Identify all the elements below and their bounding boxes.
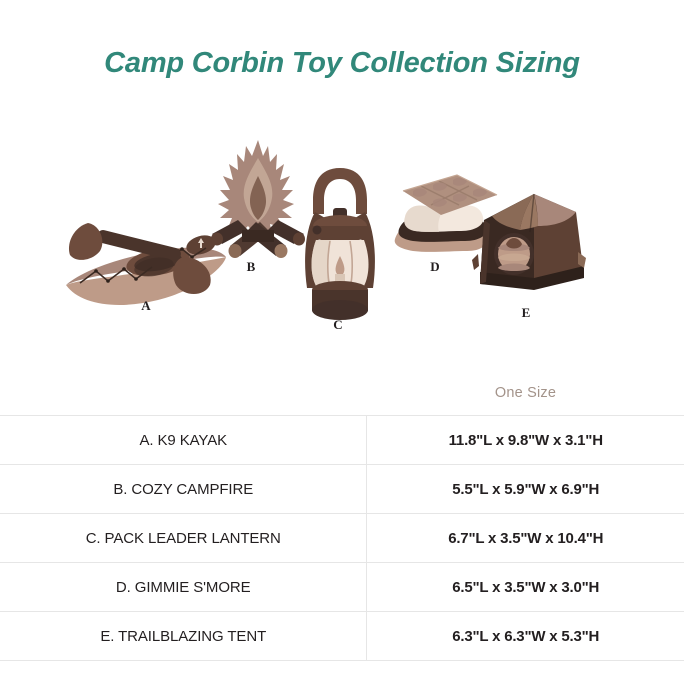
product-size-cell: 5.5"L x 5.9"W x 6.9"H [366, 465, 684, 513]
product-name-cell: A. K9 KAYAK [0, 416, 366, 464]
product-size-cell: 6.5"L x 3.5"W x 3.0"H [366, 563, 684, 611]
figure-label-c: C [323, 317, 353, 333]
column-header-one-size: One Size [367, 370, 684, 415]
table-row: A. K9 KAYAK 11.8"L x 9.8"W x 3.1"H [0, 415, 684, 464]
product-name-cell: C. PACK LEADER LANTERN [0, 514, 366, 562]
product-size-cell: 6.7"L x 3.5"W x 10.4"H [366, 514, 684, 562]
table-row: E. TRAILBLAZING TENT 6.3"L x 6.3"W x 5.3… [0, 611, 684, 661]
figure-label-b: B [236, 259, 266, 275]
tent-illustration [472, 188, 590, 306]
page-title: Camp Corbin Toy Collection Sizing [0, 47, 684, 80]
figure-label-a: A [131, 298, 161, 314]
product-size-cell: 6.3"L x 6.3"W x 5.3"H [366, 612, 684, 660]
figure-label-d: D [420, 259, 450, 275]
table-row: C. PACK LEADER LANTERN 6.7"L x 3.5"W x 1… [0, 513, 684, 562]
product-size-cell: 11.8"L x 9.8"W x 3.1"H [366, 416, 684, 464]
product-name-cell: D. GIMMIE S'MORE [0, 563, 366, 611]
sizing-table: One Size A. K9 KAYAK 11.8"L x 9.8"W x 3.… [0, 370, 684, 661]
product-name-cell: E. TRAILBLAZING TENT [0, 612, 366, 660]
table-row: D. GIMMIE S'MORE 6.5"L x 3.5"W x 3.0"H [0, 562, 684, 611]
table-header-row: One Size [0, 370, 684, 415]
illustration-stage: A B [0, 120, 684, 345]
campfire-illustration [208, 138, 308, 260]
lantern-illustration [297, 164, 383, 324]
table-row: B. COZY CAMPFIRE 5.5"L x 5.9"W x 6.9"H [0, 464, 684, 513]
figure-label-e: E [511, 305, 541, 321]
product-name-cell: B. COZY CAMPFIRE [0, 465, 366, 513]
